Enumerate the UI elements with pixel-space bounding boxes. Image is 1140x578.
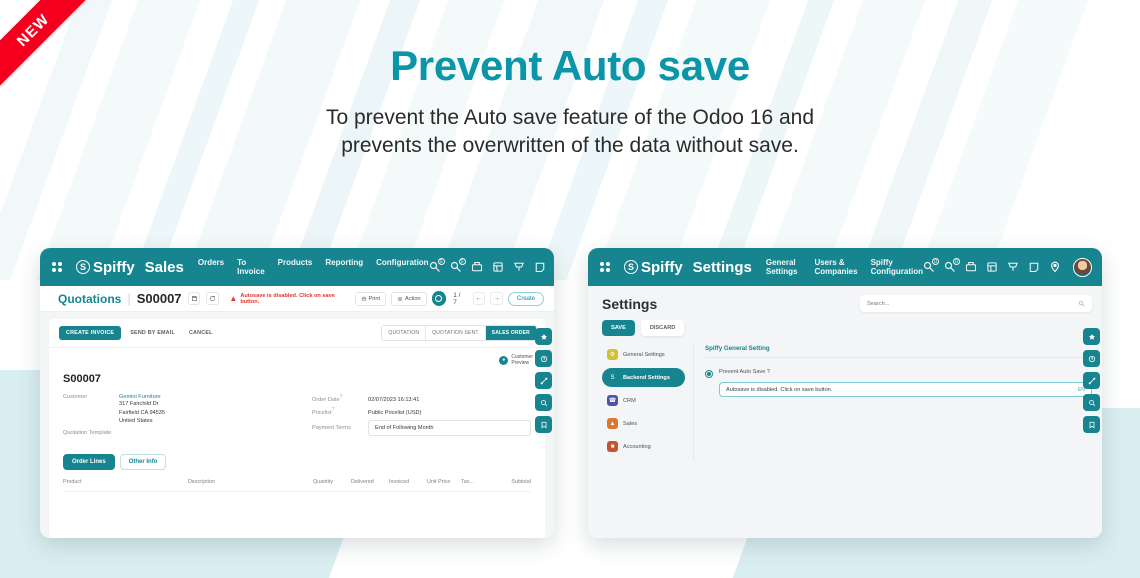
pager-previous-button[interactable]: ← bbox=[473, 292, 486, 305]
settings-header: Settings bbox=[602, 295, 1092, 312]
address-line-3: United States bbox=[119, 417, 165, 426]
send-by-email-button[interactable]: SEND BY EMAIL bbox=[130, 330, 175, 336]
tab-order-lines[interactable]: Order Lines bbox=[63, 454, 115, 470]
customer-address: 317 Fairchild Dr Fairfield CA 94535 Unit… bbox=[119, 400, 165, 426]
sidebar-item-label: CRM bbox=[623, 398, 636, 404]
nav-item-products[interactable]: Products bbox=[278, 258, 313, 276]
column-invoiced: Invoiced bbox=[389, 479, 427, 485]
create-invoice-button[interactable]: CREATE INVOICE bbox=[59, 326, 121, 340]
sales-float-buttons bbox=[535, 328, 552, 433]
print-label-icon[interactable] bbox=[471, 261, 483, 273]
brand-name: Spiffy bbox=[93, 259, 135, 276]
brand-logo[interactable]: S Spiffy bbox=[76, 259, 135, 276]
column-product: Product bbox=[63, 479, 188, 485]
breadcrumb-separator: | bbox=[127, 291, 130, 306]
prevent-auto-save-label: Prevent Auto Save ? bbox=[719, 369, 1092, 375]
settings-float-buttons bbox=[1083, 328, 1100, 433]
customer-preview-label: Customer Preview bbox=[511, 354, 533, 367]
app-name: Sales bbox=[145, 259, 184, 276]
sidebar-item-label: Backend Settings bbox=[623, 375, 670, 381]
customer-preview-button[interactable]: ● Customer Preview bbox=[499, 354, 533, 367]
discard-button[interactable]: DISCARD bbox=[641, 320, 684, 336]
accounting-icon: ■ bbox=[607, 441, 618, 452]
quotation-template-row: Quotation Template bbox=[63, 430, 282, 436]
column-description: Description bbox=[188, 479, 313, 485]
customer-field-row: Customer Gemini Furniture 317 Fairchild … bbox=[63, 394, 282, 426]
action-label: Action bbox=[405, 296, 421, 302]
sales-icon: ▲ bbox=[607, 418, 618, 429]
avatar[interactable] bbox=[1073, 258, 1092, 277]
spiffy-icon: S bbox=[607, 372, 618, 383]
page-subtitle: To prevent the Auto save feature of the … bbox=[0, 104, 1140, 159]
hero-section: Prevent Auto save To prevent the Auto sa… bbox=[0, 42, 1140, 159]
calculator-icon[interactable] bbox=[492, 261, 504, 273]
crm-icon: ☎ bbox=[607, 395, 618, 406]
activities-badge: 0 bbox=[459, 258, 466, 265]
messages-icon[interactable]: 0 bbox=[429, 261, 441, 273]
autosave-warning-text: Autosave is disabled. Click on save butt… bbox=[240, 293, 354, 305]
settings-nav-menu: General Settings Users & Companies Spiff… bbox=[766, 258, 923, 276]
discard-record-icon[interactable] bbox=[206, 292, 219, 305]
search-icon bbox=[1078, 300, 1085, 307]
cancel-button[interactable]: CANCEL bbox=[189, 330, 213, 336]
settings-body: Settings SAVE DISCARD ⚙ General Settings… bbox=[588, 286, 1102, 538]
autosave-warning: ▲ Autosave is disabled. Click on save bu… bbox=[229, 293, 354, 305]
settings-navbar: S Spiffy Settings General Settings Users… bbox=[588, 248, 1102, 286]
settings-actions: SAVE DISCARD bbox=[602, 320, 1092, 336]
order-statusbar: QUOTATION QUOTATION SENT SALES ORDER bbox=[381, 325, 537, 341]
pricelist-label: Pricelist? bbox=[312, 407, 368, 416]
location-pin-icon[interactable] bbox=[1049, 261, 1061, 273]
sales-order-form: ● Customer Preview S00007 Customer Gemin… bbox=[49, 348, 545, 538]
order-date-row: Order Date? 02/07/2023 16:13:41 bbox=[312, 394, 531, 403]
sidebar-item-label: General Settings bbox=[623, 352, 665, 358]
sidebar-item-general-settings[interactable]: ⚙ General Settings bbox=[602, 345, 685, 364]
record-title: S00007 bbox=[63, 373, 531, 385]
pricelist-row: Pricelist? Public Pricelist (USD) bbox=[312, 407, 531, 416]
sales-control-bar: Quotations | S00007 ▲ Autosave is disabl… bbox=[40, 286, 554, 312]
bookmark-icon[interactable] bbox=[1083, 416, 1100, 433]
page-subtitle-line-2: prevents the overwritten of the data wit… bbox=[0, 132, 1140, 160]
sales-navbar-icons: 0 0 bbox=[429, 258, 554, 277]
action-button[interactable]: Action bbox=[391, 292, 427, 306]
address-line-2: Fairfield CA 94535 bbox=[119, 409, 165, 418]
notes-icon[interactable] bbox=[1028, 261, 1040, 273]
brand-name: Spiffy bbox=[641, 259, 683, 276]
messages-badge: 0 bbox=[932, 258, 939, 265]
address-line-1: 317 Fairchild Dr bbox=[119, 400, 165, 409]
wrench-icon[interactable] bbox=[535, 372, 552, 389]
star-icon[interactable] bbox=[535, 328, 552, 345]
quotation-template-label: Quotation Template bbox=[63, 430, 119, 436]
status-sales-order[interactable]: SALES ORDER bbox=[486, 326, 536, 340]
save-indicator-button[interactable] bbox=[432, 291, 447, 306]
nav-item-spiffy-configuration[interactable]: Spiffy Configuration bbox=[871, 258, 923, 276]
order-form-tabs: Order Lines Other Info bbox=[63, 454, 531, 470]
messages-badge: 0 bbox=[438, 258, 445, 265]
spiffy-logo-icon: S bbox=[624, 260, 638, 274]
print-label: Print bbox=[369, 296, 381, 302]
sidebar-item-sales[interactable]: ▲ Sales bbox=[602, 414, 685, 433]
apps-grid-icon[interactable] bbox=[600, 262, 610, 272]
pager-count: 1 / 7 bbox=[453, 292, 465, 306]
form-column-right: Order Date? 02/07/2023 16:13:41 Pricelis… bbox=[312, 394, 531, 440]
order-date-value[interactable]: 02/07/2023 16:13:41 bbox=[368, 397, 419, 403]
search-icon[interactable] bbox=[535, 394, 552, 411]
form-column-left: Customer Gemini Furniture 317 Fairchild … bbox=[63, 394, 282, 440]
column-delivered: Delivered bbox=[351, 479, 389, 485]
apps-grid-icon[interactable] bbox=[52, 262, 62, 272]
nav-item-configuration[interactable]: Configuration bbox=[376, 258, 428, 276]
pane-divider bbox=[705, 357, 1092, 358]
spiffy-logo-icon: S bbox=[76, 260, 90, 274]
print-button[interactable]: Print bbox=[355, 292, 387, 306]
customer-preview-icon: ● bbox=[499, 356, 508, 365]
question-icon[interactable] bbox=[535, 350, 552, 367]
pane-title: Spiffy General Setting bbox=[705, 345, 1092, 357]
sales-navbar: S Spiffy Sales Orders To Invoice Product… bbox=[40, 248, 554, 286]
settings-main: ⚙ General Settings S Backend Settings ☎ … bbox=[602, 345, 1092, 460]
gear-icon: ⚙ bbox=[607, 349, 618, 360]
prevent-auto-save-group: Prevent Auto Save ? Autosave is disabled… bbox=[719, 369, 1092, 397]
sales-sheet-wrapper: CREATE INVOICE SEND BY EMAIL CANCEL QUOT… bbox=[40, 312, 554, 538]
settings-window: S Spiffy Settings General Settings Users… bbox=[588, 248, 1102, 538]
status-quotation-sent[interactable]: QUOTATION SENT bbox=[426, 326, 486, 340]
status-quotation[interactable]: QUOTATION bbox=[382, 326, 426, 340]
star-icon[interactable] bbox=[1083, 328, 1100, 345]
sales-nav-menu: Orders To Invoice Products Reporting Con… bbox=[198, 258, 429, 276]
column-quantity: Quantity bbox=[313, 479, 351, 485]
settings-title: Settings bbox=[602, 296, 657, 312]
order-date-label: Order Date? bbox=[312, 394, 368, 403]
brand-logo[interactable]: S Spiffy bbox=[624, 259, 683, 276]
sales-control-actions: Print Action 1 / 7 ← → Create bbox=[355, 291, 544, 306]
save-record-icon[interactable] bbox=[188, 292, 201, 305]
column-subtotal: Subtotal bbox=[511, 479, 531, 485]
pager-next-button[interactable]: → bbox=[490, 292, 503, 305]
calculator-icon[interactable] bbox=[986, 261, 998, 273]
customer-preview-line-2: Preview bbox=[511, 360, 533, 366]
sidebar-item-crm[interactable]: ☎ CRM bbox=[602, 391, 685, 410]
nav-item-general-settings[interactable]: General Settings bbox=[766, 258, 802, 276]
autosave-message-value: Autosave is disabled. Click on save butt… bbox=[726, 387, 1078, 393]
nav-item-orders[interactable]: Orders bbox=[198, 258, 224, 276]
pos-icon[interactable] bbox=[1007, 261, 1019, 273]
print-label-icon[interactable] bbox=[965, 261, 977, 273]
page-subtitle-line-1: To prevent the Auto save feature of the … bbox=[0, 104, 1140, 132]
nav-item-reporting[interactable]: Reporting bbox=[325, 258, 363, 276]
notes-icon[interactable] bbox=[534, 261, 546, 273]
save-button[interactable]: SAVE bbox=[602, 320, 635, 336]
messages-icon[interactable]: 0 bbox=[923, 261, 935, 273]
wrench-icon[interactable] bbox=[1083, 372, 1100, 389]
customer-value-group: Gemini Furniture 317 Fairchild Dr Fairfi… bbox=[119, 394, 165, 426]
pos-icon[interactable] bbox=[513, 261, 525, 273]
nav-item-users-companies[interactable]: Users & Companies bbox=[814, 258, 857, 276]
sidebar-item-accounting[interactable]: ■ Accounting bbox=[602, 437, 685, 456]
app-name: Settings bbox=[693, 259, 752, 276]
activities-badge: 0 bbox=[953, 258, 960, 265]
settings-pane: Spiffy General Setting Prevent Auto Save… bbox=[694, 345, 1092, 460]
sidebar-item-label: Sales bbox=[623, 421, 637, 427]
question-icon[interactable] bbox=[1083, 350, 1100, 367]
warning-triangle-icon: ▲ bbox=[229, 295, 237, 303]
form-columns: Customer Gemini Furniture 317 Fairchild … bbox=[63, 394, 531, 440]
sales-action-row: CREATE INVOICE SEND BY EMAIL CANCEL QUOT… bbox=[49, 319, 545, 348]
payment-terms-input[interactable]: End of Following Month bbox=[368, 420, 531, 436]
prevent-auto-save-checkbox[interactable] bbox=[705, 370, 713, 378]
nav-item-to-invoice[interactable]: To Invoice bbox=[237, 258, 265, 276]
settings-navbar-icons: 0 0 bbox=[923, 258, 1092, 277]
column-unit-price: Unit Price bbox=[427, 479, 461, 485]
order-lines-table-header: Product Description Quantity Delivered I… bbox=[63, 479, 531, 492]
sidebar-item-label: Accounting bbox=[623, 444, 651, 450]
autosave-message-input[interactable]: Autosave is disabled. Click on save butt… bbox=[719, 382, 1092, 397]
prevent-auto-save-option: Prevent Auto Save ? Autosave is disabled… bbox=[705, 369, 1092, 397]
tab-other-info[interactable]: Other Info bbox=[120, 454, 167, 470]
breadcrumb-current: S00007 bbox=[137, 291, 182, 306]
settings-search[interactable] bbox=[860, 295, 1092, 312]
column-tax: Tax... bbox=[461, 479, 495, 485]
search-input[interactable] bbox=[867, 301, 1073, 307]
settings-sidebar: ⚙ General Settings S Backend Settings ☎ … bbox=[602, 345, 694, 460]
customer-label: Customer bbox=[63, 394, 119, 400]
page-title: Prevent Auto save bbox=[0, 42, 1140, 90]
activities-icon[interactable]: 0 bbox=[450, 261, 462, 273]
payment-terms-row: Payment Terms End of Following Month bbox=[312, 420, 531, 436]
breadcrumb-quotations[interactable]: Quotations bbox=[58, 292, 121, 306]
activities-icon[interactable]: 0 bbox=[944, 261, 956, 273]
sales-window: S Spiffy Sales Orders To Invoice Product… bbox=[40, 248, 554, 538]
sidebar-item-backend-settings[interactable]: S Backend Settings bbox=[602, 368, 685, 387]
bookmark-icon[interactable] bbox=[535, 416, 552, 433]
create-button[interactable]: Create bbox=[508, 292, 544, 306]
pricelist-value[interactable]: Public Pricelist (USD) bbox=[368, 410, 421, 416]
payment-terms-label: Payment Terms bbox=[312, 425, 368, 431]
search-icon[interactable] bbox=[1083, 394, 1100, 411]
